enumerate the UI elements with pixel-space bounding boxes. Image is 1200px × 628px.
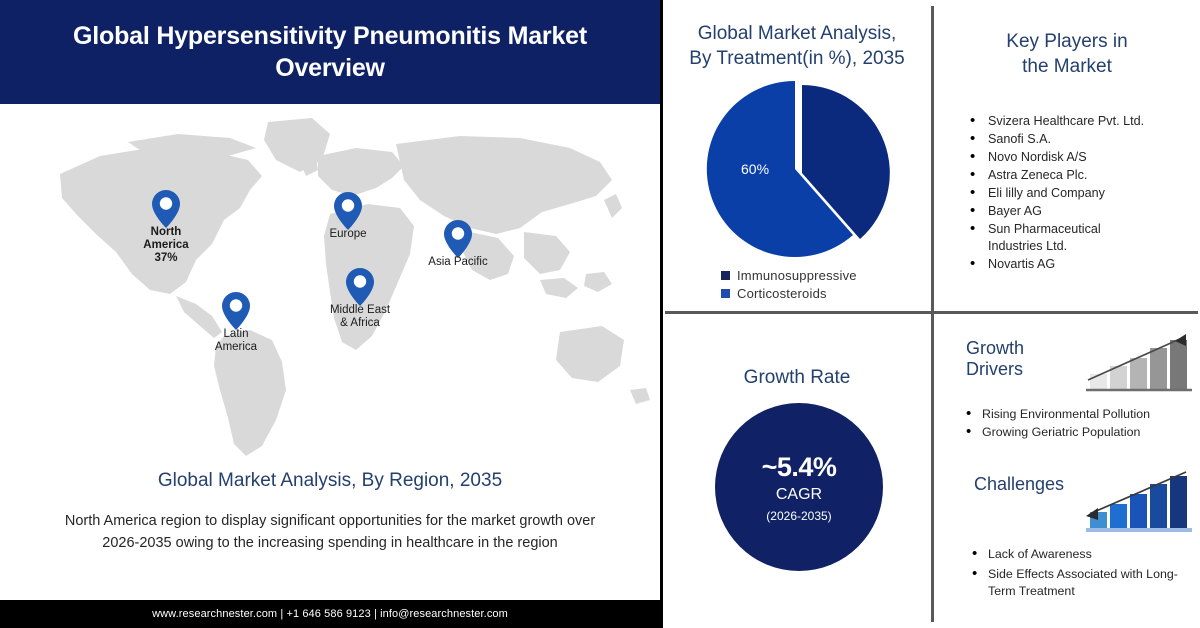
map-pin-label-north-america: North America 37% [143,226,188,265]
world-map-svg [0,104,660,464]
key-players-title: Key Players in the Market [934,30,1200,79]
world-map: North America 37% Europe [0,104,660,464]
growth-rate-circle: ~5.4% CAGR (2026-2035) [715,403,883,571]
pin-line-1: Europe [329,228,366,241]
legend-label: Immunosuppressive [737,268,857,283]
list-item: Sun Pharmaceutical Industries Ltd. [966,221,1146,256]
map-pin-icon [152,190,180,228]
page-title: Global Hypersensitivity Pneumonitis Mark… [0,20,660,84]
map-caption-body: North America region to display signific… [60,510,600,554]
pin-line-2: America [215,341,257,354]
map-pin-icon [444,220,472,258]
pie-legend: Immunosuppressive Corticosteroids [663,268,931,301]
map-pin-label-middle-east-africa: Middle East & Africa [330,304,390,330]
map-pin-middle-east-africa[interactable]: Middle East & Africa [346,268,374,306]
left-section: Global Hypersensitivity Pneumonitis Mark… [0,0,660,628]
map-pin-icon [222,292,250,330]
list-item: Svizera Healthcare Pvt. Ltd. [966,113,1200,130]
map-pin-icon [334,192,362,230]
list-item: Astra Zeneca Plc. [966,167,1200,184]
legend-item-corticosteroids[interactable]: Corticosteroids [721,286,931,301]
pin-line-3: 37% [143,252,188,265]
drivers-title-line-1: Growth [966,338,1024,359]
header-bar: Global Hypersensitivity Pneumonitis Mark… [0,0,660,104]
map-pin-asia-pacific[interactable]: Asia Pacific [444,220,472,258]
pin-line-1: Asia Pacific [428,256,487,269]
footer-bar: www.researchnester.com | +1 646 586 9123… [0,600,660,628]
challenges-bar-chart-icon [1082,468,1194,534]
map-pin-icon [346,268,374,306]
map-pin-label-asia-pacific: Asia Pacific [428,256,487,269]
cagr-metric-label: CAGR [776,486,822,504]
right-section: Global Market Analysis, By Treatment(in … [663,0,1200,628]
pin-line-1: North [143,226,188,239]
list-item: Rising Environmental Pollution [964,406,1184,424]
list-item: Lack of Awareness [970,546,1180,564]
treatment-pie-chart: 60% [663,77,931,262]
list-item: Sanofi S.A. [966,131,1200,148]
list-item: Side Effects Associated with Long-Term T… [970,566,1180,601]
panel-treatment-analysis: Global Market Analysis, By Treatment(in … [663,0,931,311]
panel-growth-rate: Growth Rate ~5.4% CAGR (2026-2035) [663,314,931,628]
challenges-title: Challenges [974,474,1064,495]
infographic-root: Global Hypersensitivity Pneumonitis Mark… [0,0,1200,628]
map-pin-europe[interactable]: Europe [334,192,362,230]
panel-key-players: Key Players in the Market Svizera Health… [934,0,1200,311]
key-players-title-line-2: the Market [934,55,1200,80]
map-pin-label-europe: Europe [329,228,366,241]
pin-line-2: America [143,239,188,252]
list-item: Eli lilly and Company [966,185,1200,202]
legend-label: Corticosteroids [737,286,827,301]
key-players-list: Svizera Healthcare Pvt. Ltd. Sanofi S.A.… [966,113,1200,273]
footer-contact-text: www.researchnester.com | +1 646 586 9123… [152,608,508,620]
legend-item-immunosuppressive[interactable]: Immunosuppressive [721,268,931,283]
list-item: Growing Geriatric Population [964,424,1184,442]
pin-line-2: & Africa [330,317,390,330]
map-caption-title: Global Market Analysis, By Region, 2035 [0,470,660,492]
legend-swatch-icon [721,289,730,298]
challenges-list: Lack of Awareness Side Effects Associate… [970,546,1180,601]
map-pin-north-america[interactable]: North America 37% [152,190,180,228]
treatment-title-line-2: By Treatment(in %), 2035 [663,47,931,72]
map-pin-latin-america[interactable]: Latin America [222,292,250,330]
cagr-period: (2026-2035) [766,509,831,523]
growth-drivers-list: Rising Environmental Pollution Growing G… [964,406,1184,441]
list-item: Novartis AG [966,256,1200,273]
cagr-value: ~5.4% [762,452,837,483]
growth-drivers-bar-chart-icon [1082,332,1194,394]
legend-swatch-icon [721,271,730,280]
list-item: Bayer AG [966,203,1200,220]
treatment-title-line-1: Global Market Analysis, [663,22,931,47]
key-players-title-line-1: Key Players in [934,30,1200,55]
list-item: Novo Nordisk A/S [966,149,1200,166]
panel-drivers-challenges: Growth Drivers Rising Environmental Poll… [934,314,1200,628]
pin-line-1: Latin [215,328,257,341]
pin-line-1: Middle East [330,304,390,317]
growth-rate-title: Growth Rate [663,366,931,391]
pie-data-label-corticosteroids: 60% [741,161,769,177]
drivers-title-line-2: Drivers [966,359,1024,380]
growth-drivers-title: Growth Drivers [966,338,1024,380]
map-pin-label-latin-america: Latin America [215,328,257,354]
treatment-panel-title: Global Market Analysis, By Treatment(in … [663,22,931,71]
pie-svg [663,77,931,262]
